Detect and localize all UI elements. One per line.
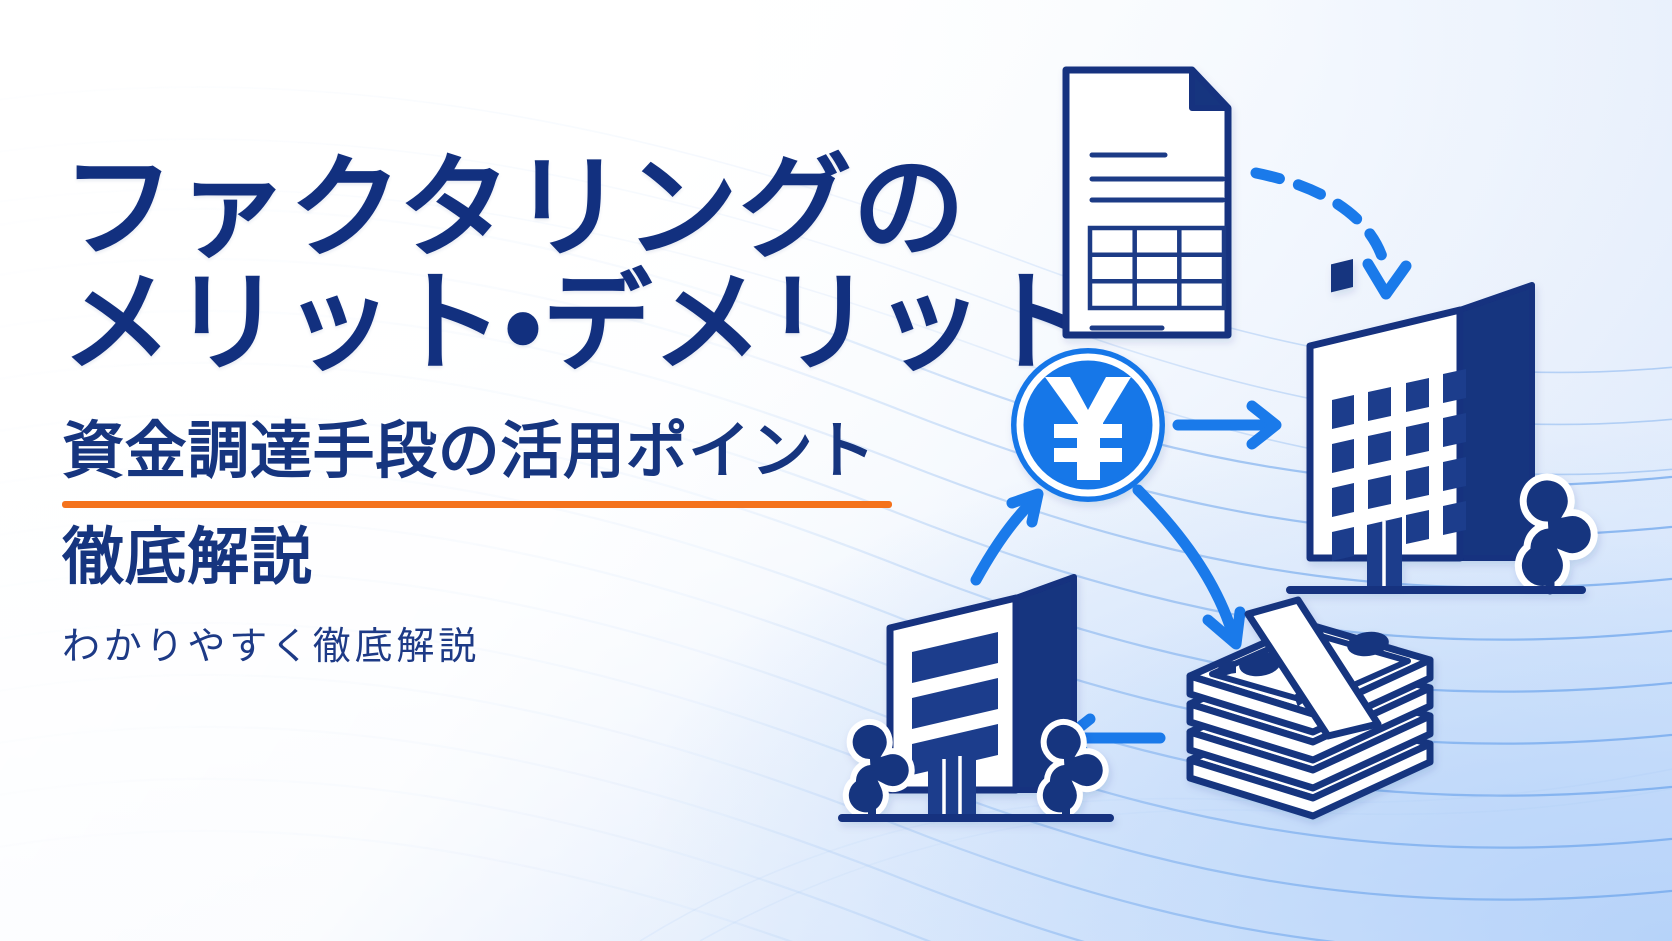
factoring-flow-illustration xyxy=(820,20,1672,860)
curved-arrow-company-to-coin xyxy=(976,494,1038,580)
yen-coin-icon xyxy=(1011,348,1165,502)
office-building-icon xyxy=(1290,259,1594,590)
curved-arrow-coin-to-cash xyxy=(1138,490,1240,644)
banner-canvas: ファクタリングの メリット・デメリット 資金調達手段の活用ポイント 徹底解説 わ… xyxy=(0,0,1672,941)
invoice-document-icon xyxy=(1066,70,1228,335)
orange-divider xyxy=(62,501,892,508)
company-building-icon xyxy=(842,577,1110,820)
arrow-coin-to-building xyxy=(1178,406,1276,444)
tree-icon-right xyxy=(1518,477,1594,590)
